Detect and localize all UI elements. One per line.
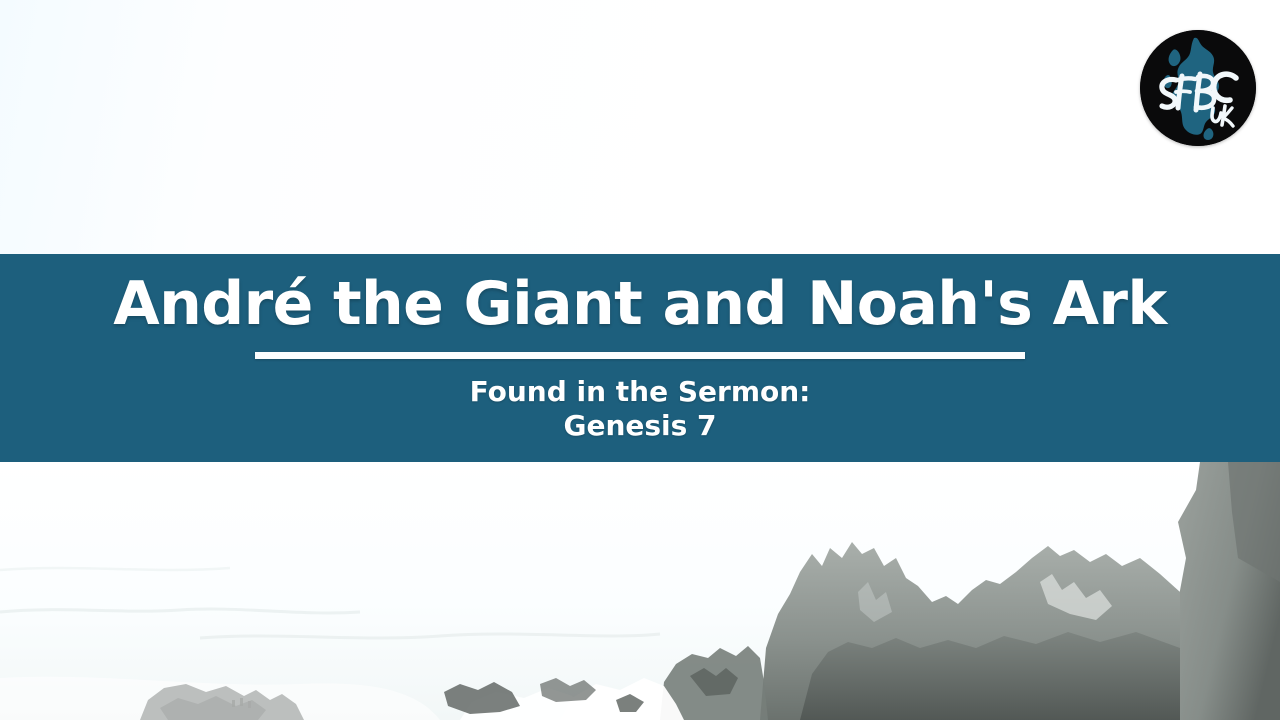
subtitle: Found in the Sermon: Genesis 7 [0,375,1280,443]
title-banner: André the Giant and Noah's Ark Found in … [0,254,1280,462]
sfbc-uk-logo [1140,30,1256,146]
title-divider [255,352,1025,359]
sermon-title-slide: André the Giant and Noah's Ark Found in … [0,0,1280,720]
subtitle-line-2: Genesis 7 [0,409,1280,443]
subtitle-line-1: Found in the Sermon: [470,375,811,408]
top-white-area [0,0,1280,254]
page-title: André the Giant and Noah's Ark [0,268,1280,340]
coastal-rocks-sea-spray-photo [0,462,1280,720]
